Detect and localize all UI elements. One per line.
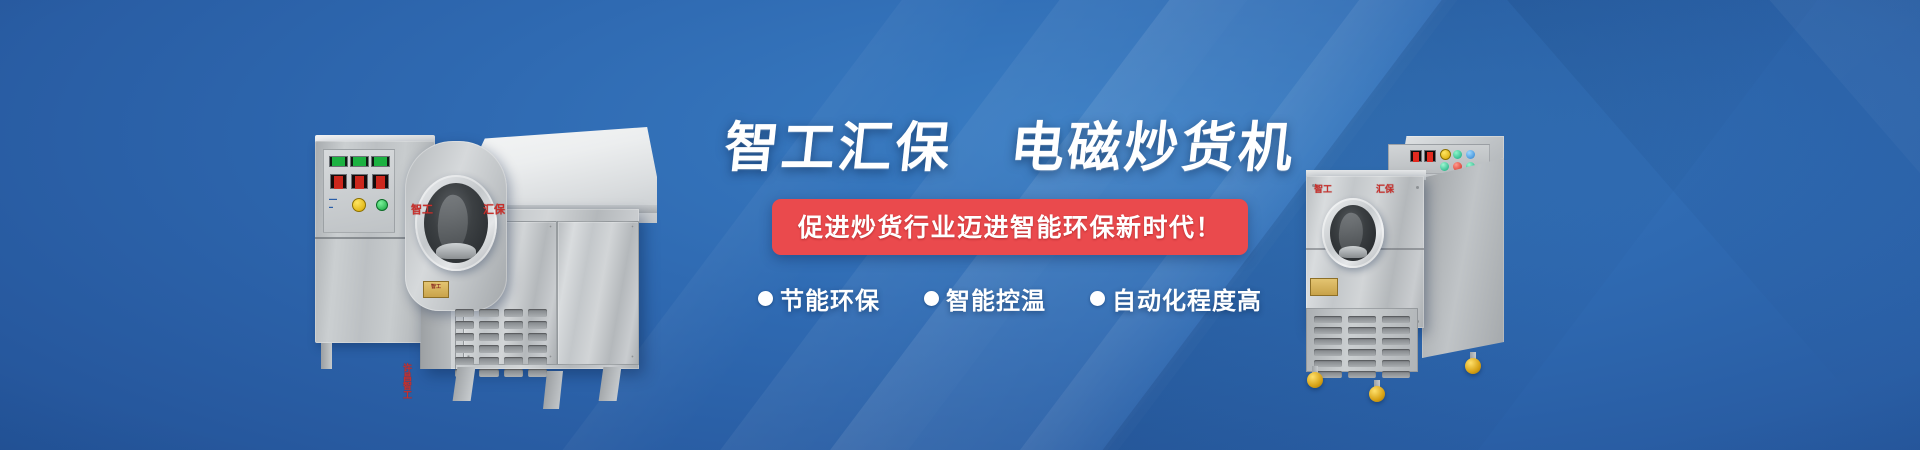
display-green-2 — [350, 156, 369, 167]
drum-pan — [1339, 246, 1367, 258]
product-image-compact-roaster: 智工 汇保 — [1288, 100, 1548, 420]
machine-brand-right: 汇保 — [1376, 182, 1394, 195]
bolt-2 — [1416, 186, 1419, 189]
nameplate: 智工 — [423, 281, 449, 298]
display-red-3 — [372, 174, 389, 189]
cabinet-vertical-brand: 许昌智工 — [401, 363, 412, 399]
machine-foot-left — [453, 367, 476, 401]
display-red-1 — [330, 174, 347, 189]
bolt-1 — [1312, 184, 1315, 187]
button-teal-2[interactable] — [1440, 162, 1449, 171]
selector-knob[interactable] — [352, 198, 366, 212]
feature-label-3: 自动化程度高 — [1112, 281, 1262, 316]
title-part-2: 电磁炒货机 — [1007, 118, 1298, 178]
caster-wheel-front — [1369, 386, 1385, 402]
button-teal-1[interactable] — [1453, 150, 1462, 159]
ribbon-wrapper: 促进炒货行业迈进智能环保新时代！ — [700, 199, 1320, 255]
caster-wheel-left — [1307, 372, 1323, 388]
ventilation-grille — [1314, 316, 1410, 364]
feature-item-1: 节能环保 — [758, 281, 880, 316]
selector-knob[interactable] — [1440, 149, 1451, 160]
cabinet-door-right[interactable] — [557, 221, 639, 365]
promo-banner: ▬▬ ▬ 许昌智工 智工 汇保 智工 — [0, 0, 1920, 450]
bolt-5 — [631, 225, 634, 228]
drum-opening[interactable] — [424, 183, 488, 263]
display-red-a — [1410, 150, 1422, 162]
cabinet-leg-left — [321, 343, 332, 369]
bullet-dot-icon — [924, 291, 939, 306]
bullet-dot-icon — [1090, 291, 1105, 306]
banner-copy: 智工汇保 电磁炒货机 促进炒货行业迈进智能环保新时代！ 节能环保 智能控温 自动… — [700, 120, 1320, 316]
button-blue-1[interactable] — [1466, 150, 1475, 159]
drum-pan — [436, 243, 476, 259]
ventilation-grille — [455, 309, 547, 367]
bolt-4 — [549, 355, 552, 358]
display-green-1 — [329, 156, 348, 167]
nameplate — [1310, 278, 1338, 296]
bolt-6 — [631, 355, 634, 358]
machine-side-panel — [1422, 158, 1504, 358]
title-part-1: 智工汇保 — [721, 118, 955, 178]
nameplate-text: 智工 — [424, 282, 448, 290]
feature-item-3: 自动化程度高 — [1090, 281, 1262, 316]
product-image-large-roaster: ▬▬ ▬ 许昌智工 智工 汇保 智工 — [215, 105, 685, 435]
feature-list: 节能环保 智能控温 自动化程度高 — [700, 281, 1320, 316]
bolt-2 — [549, 225, 552, 228]
feature-item-2: 智能控温 — [924, 281, 1046, 316]
machine-brand-left: 智工 — [411, 201, 433, 217]
tagline-ribbon: 促进炒货行业迈进智能环保新时代！ — [772, 199, 1248, 255]
display-green-3 — [371, 156, 390, 167]
display-red-b — [1424, 150, 1436, 162]
feature-label-2: 智能控温 — [946, 281, 1046, 316]
machine-brand-left: 智工 — [1314, 182, 1332, 195]
caster-wheel-right — [1465, 358, 1481, 374]
control-panel: ▬▬ ▬ — [323, 149, 395, 233]
drum-opening[interactable] — [1330, 205, 1376, 261]
display-red-2 — [351, 174, 368, 189]
machine-foot-middle — [543, 371, 563, 409]
page-title: 智工汇保 电磁炒货机 — [697, 120, 1323, 177]
panel-label-left: ▬▬ — [329, 196, 337, 201]
bullet-dot-icon — [758, 291, 773, 306]
machine-foot-right — [599, 367, 622, 401]
machine-brand-right: 汇保 — [483, 201, 505, 217]
feature-label-1: 节能环保 — [780, 281, 880, 316]
start-button[interactable] — [376, 199, 388, 211]
panel-label-left2: ▬ — [329, 204, 333, 209]
